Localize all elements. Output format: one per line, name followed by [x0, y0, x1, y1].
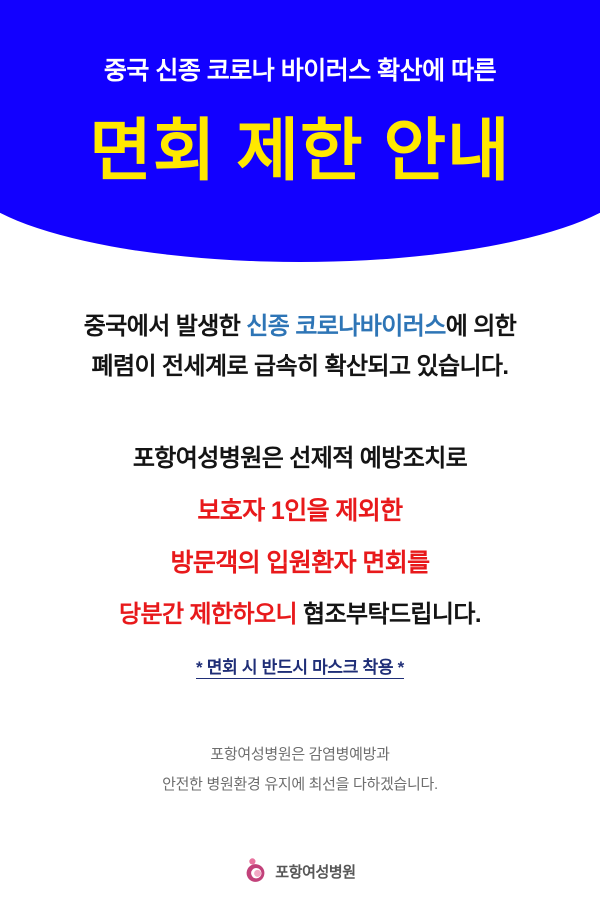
footer-line-2: 안전한 병원환경 유지에 최선을 다하겠습니다. [0, 770, 600, 800]
intro-paragraph: 중국에서 발생한 신종 코로나바이러스에 의한 폐렴이 전세계로 급속히 확산되… [0, 307, 600, 387]
mask-note-text: * 면회 시 반드시 마스크 착용 * [196, 658, 404, 679]
hospital-logo: 포항여성병원 [0, 858, 600, 884]
hospital-logo-name: 포항여성병원 [275, 861, 355, 882]
message-line-3: 방문객의 입원환자 면회를 [0, 537, 600, 589]
message-line-4-red: 당분간 제한하오니 [119, 601, 297, 628]
footer-statement: 포항여성병원은 감염병예방과 안전한 병원환경 유지에 최선을 다하겠습니다. [0, 740, 600, 800]
intro-line-2: 폐렴이 전세계로 급속히 확산되고 있습니다. [0, 347, 600, 387]
message-line-1: 포항여성병원은 선제적 예방조치로 [0, 433, 600, 485]
intro-line-1-before: 중국에서 발생한 [84, 313, 247, 340]
message-line-2: 보호자 1인을 제외한 [0, 485, 600, 537]
message-line-4: 당분간 제한하오니 협조부탁드립니다. [0, 589, 600, 641]
footer-line-1: 포항여성병원은 감염병예방과 [0, 740, 600, 770]
poster-root: 중국 신종 코로나 바이러스 확산에 따른 면회 제한 안내 중국에서 발생한 … [0, 0, 600, 899]
intro-line-1-after: 에 의한 [446, 313, 517, 340]
intro-line-1: 중국에서 발생한 신종 코로나바이러스에 의한 [0, 307, 600, 347]
banner-title: 면회 제한 안내 [0, 112, 600, 190]
main-message: 포항여성병원은 선제적 예방조치로 보호자 1인을 제외한 방문객의 입원환자 … [0, 433, 600, 641]
mask-note: * 면회 시 반드시 마스크 착용 * [0, 653, 600, 678]
message-line-4-black: 협조부탁드립니다. [297, 601, 481, 628]
banner-subtitle: 중국 신종 코로나 바이러스 확산에 따른 [0, 56, 600, 86]
poster-body: 중국에서 발생한 신종 코로나바이러스에 의한 폐렴이 전세계로 급속히 확산되… [0, 262, 600, 800]
intro-line-1-highlight: 신종 코로나바이러스 [246, 313, 445, 340]
header-banner-content: 중국 신종 코로나 바이러스 확산에 따른 면회 제한 안내 [0, 0, 600, 262]
hospital-logo-icon [244, 858, 268, 884]
